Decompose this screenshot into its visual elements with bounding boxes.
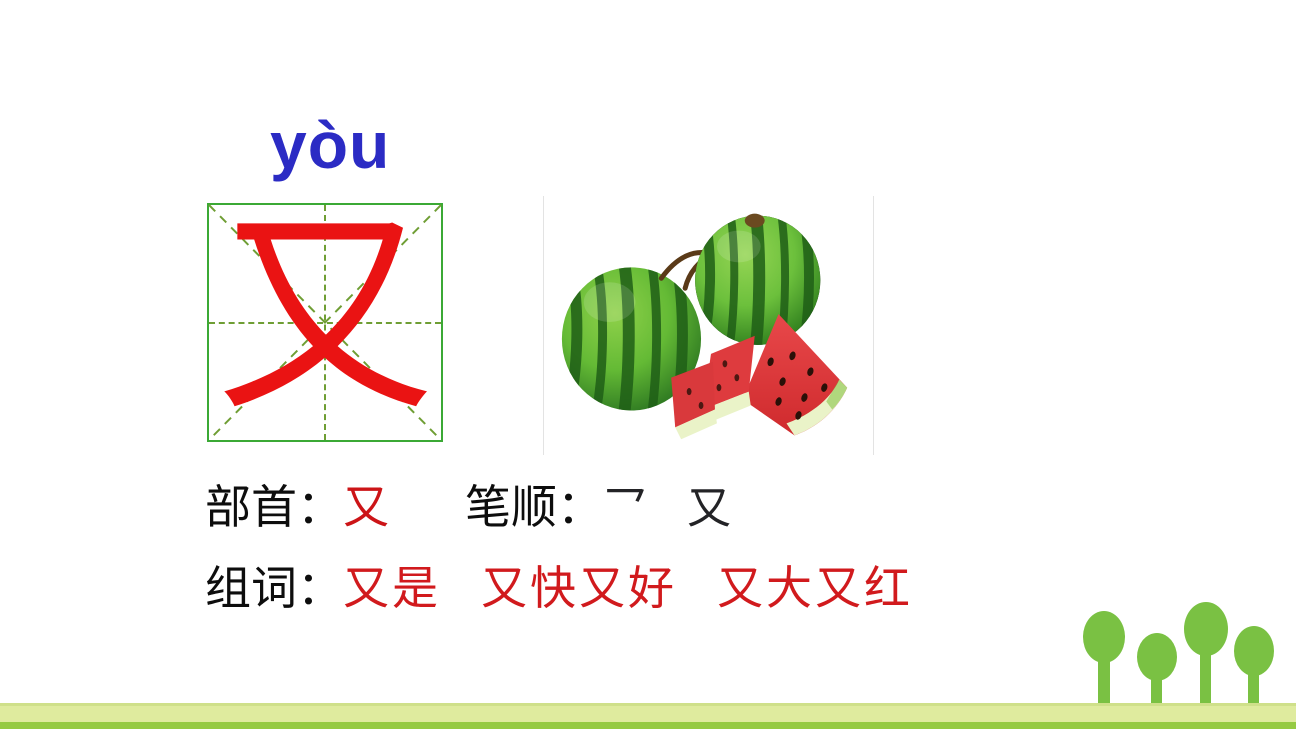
vocabulary-list: 又是 又快又好 又大又红 [343,565,913,611]
stroke-step-1: 乛 [603,487,647,531]
tianzige-practice-grid: 又 [207,203,443,442]
main-character-glyph: 又 [216,208,434,426]
vocabulary-word-3: 又大又红 [717,565,913,611]
vocabulary-word-1: 又是 [343,565,441,611]
vocabulary-label: 组词： [205,565,343,611]
radical-value: 又 [343,484,389,530]
watermelon-illustration [544,196,873,455]
footer-band-pale [0,706,1296,722]
radical-label: 部首： [205,484,343,530]
watermelon-whole-right [695,205,820,358]
character-cell: 又 [209,205,441,440]
radical-and-stroke-row: 部首： 又 笔顺： 乛 又 [205,484,731,531]
stroke-order-label: 笔顺： [465,484,603,530]
stroke-order-list: 乛 又 [603,487,731,531]
pinyin-text: yòu [270,112,390,178]
vocabulary-row: 组词： 又是 又快又好 又大又红 [205,565,913,611]
stroke-step-2: 又 [687,487,731,531]
tree-group-icon [1078,601,1278,711]
watermelon-image [543,196,874,455]
vocabulary-word-2: 又快又好 [481,565,677,611]
footer-band-green [0,722,1296,729]
decorative-trees [1078,601,1278,711]
